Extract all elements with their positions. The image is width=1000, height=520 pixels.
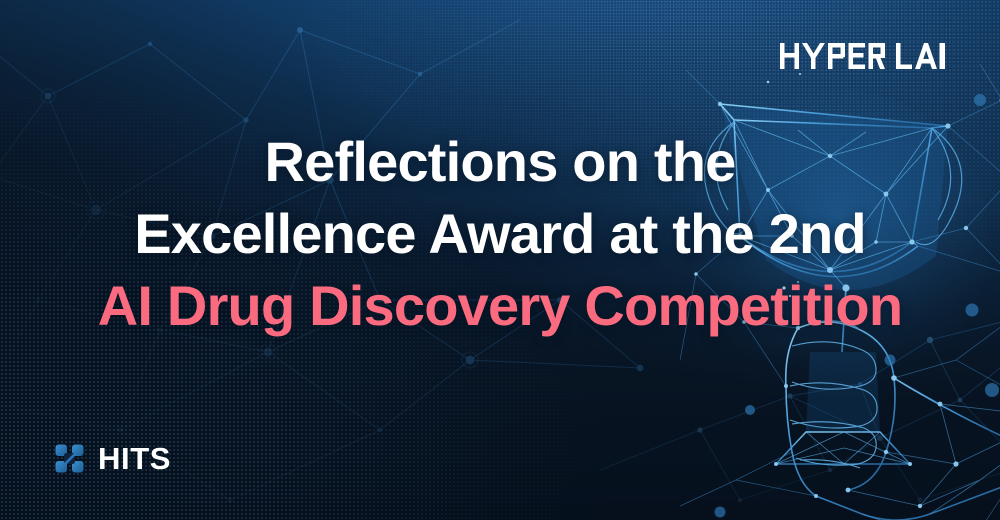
headline-line-2: Excellence Award at the 2nd (40, 198, 960, 270)
hits-logo-text: HITS (98, 443, 171, 474)
headline-line-1: Reflections on the (40, 126, 960, 198)
promo-banner: HYPER LAB (0, 0, 1000, 520)
headline-line-3: AI Drug Discovery Competition (40, 270, 960, 342)
four-rounded-squares-icon (55, 444, 85, 474)
headline: Reflections on the Excellence Award at t… (0, 126, 1000, 342)
hits-logo[interactable]: HITS (55, 443, 171, 474)
